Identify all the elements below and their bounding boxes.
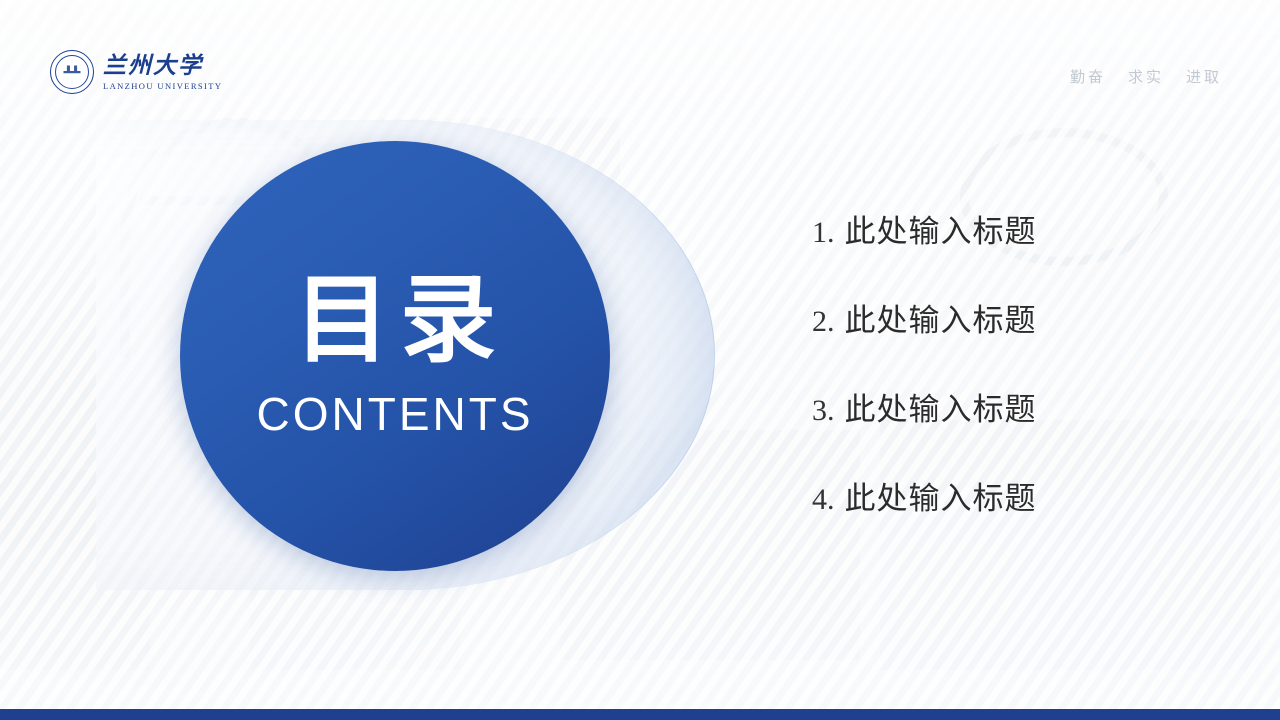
list-item-number: 1. [812, 216, 835, 250]
motto-word-3: 进取 [1186, 66, 1222, 87]
motto-word-2: 求实 [1128, 66, 1164, 87]
list-item[interactable]: 1. 此处输入标题 [812, 206, 1232, 251]
contents-title-cn: 目录 [284, 271, 506, 372]
agenda-list: 1. 此处输入标题 2. 此处输入标题 3. 此处输入标题 4. 此处输入标题 [812, 206, 1232, 518]
university-seal-icon [50, 50, 94, 94]
list-item[interactable]: 4. 此处输入标题 [812, 473, 1232, 518]
university-name-en: LANZHOU UNIVERSITY [103, 82, 222, 91]
presentation-slide: 兰州大学 LANZHOU UNIVERSITY 勤奋 求实 进取 目录 CONT… [0, 0, 1280, 720]
list-item[interactable]: 2. 此处输入标题 [812, 295, 1232, 340]
list-item[interactable]: 3. 此处输入标题 [812, 384, 1232, 429]
list-item-label: 此处输入标题 [845, 384, 1037, 429]
list-item-number: 2. [812, 305, 835, 339]
bottom-accent-bar [0, 709, 1280, 720]
list-item-label: 此处输入标题 [845, 206, 1037, 251]
university-name-cn: 兰州大学 [103, 54, 222, 77]
motto-word-1: 勤奋 [1070, 66, 1106, 87]
list-item-number: 3. [812, 394, 835, 428]
list-item-label: 此处输入标题 [845, 295, 1037, 340]
university-logo-text: 兰州大学 LANZHOU UNIVERSITY [103, 54, 222, 91]
contents-title-en: CONTENTS [257, 387, 534, 441]
list-item-number: 4. [812, 483, 835, 517]
contents-badge: 目录 CONTENTS [180, 141, 610, 571]
university-motto: 勤奋 求实 进取 [1070, 66, 1222, 87]
university-logo: 兰州大学 LANZHOU UNIVERSITY [50, 50, 222, 94]
list-item-label: 此处输入标题 [845, 473, 1037, 518]
